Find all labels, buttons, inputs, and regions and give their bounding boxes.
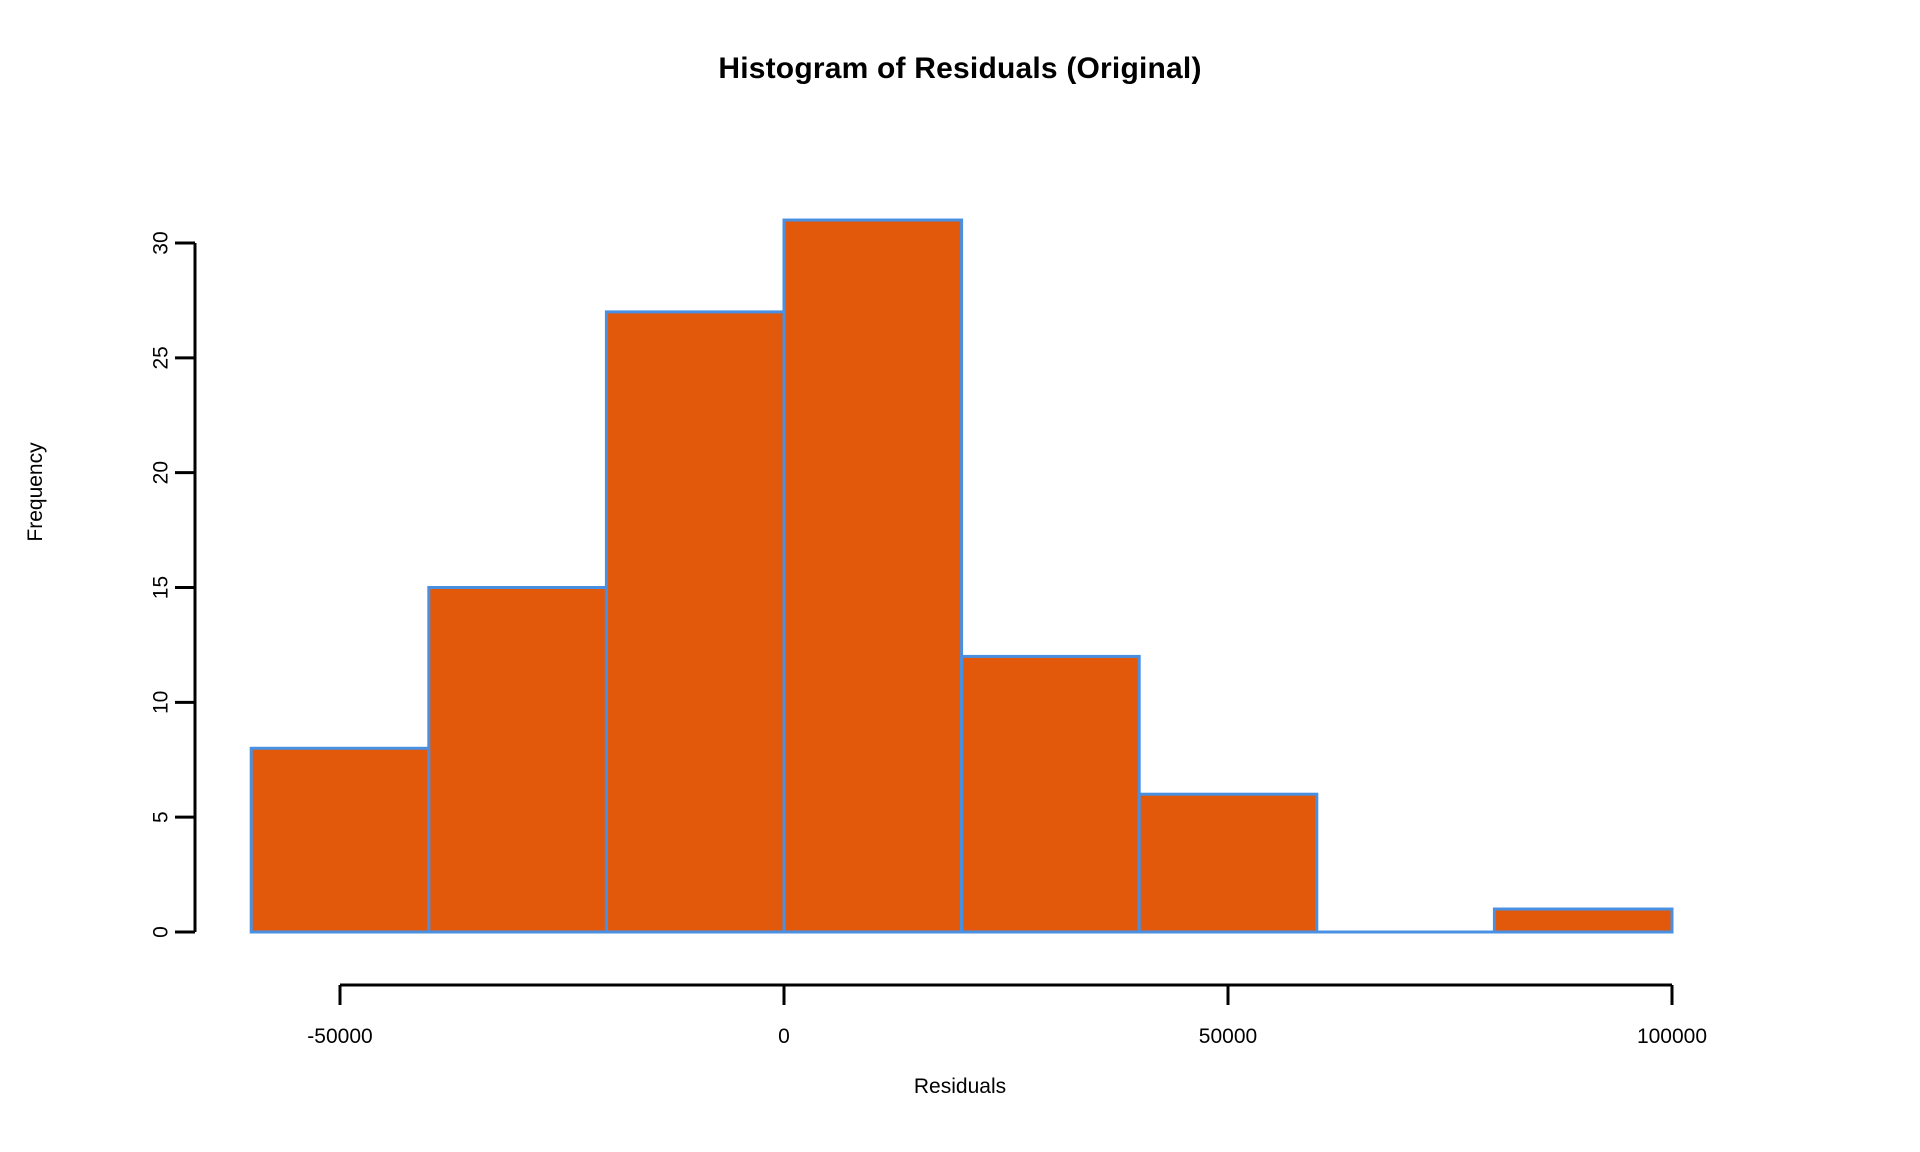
y-axis-tick-label: 30 [150,231,173,254]
x-axis-tick-label: -50000 [307,1025,372,1048]
histogram-bar [784,220,962,932]
histogram-bar [1494,909,1672,932]
histogram-bar [1139,794,1317,932]
x-axis-tick-label: 50000 [1199,1025,1257,1048]
histogram-bar [606,312,784,932]
y-axis-tick-label: 20 [150,461,173,484]
x-axis-tick-label: 100000 [1637,1025,1707,1048]
y-axis-tick-label: 0 [150,926,173,938]
x-axis: -50000050000100000 [307,985,1707,1048]
histogram-bar [962,656,1140,932]
y-axis-tick-label: 5 [150,811,173,823]
histogram-bar [251,748,429,932]
chart-canvas: 051015202530 -50000050000100000 [0,0,1920,1152]
y-axis-tick-label: 25 [150,346,173,369]
histogram-bar [429,588,607,933]
y-axis-tick-label: 10 [150,691,173,714]
x-axis-tick-label: 0 [778,1025,790,1048]
histogram-plot: Histogram of Residuals (Original) Freque… [0,0,1920,1152]
y-axis-tick-label: 15 [150,576,173,599]
y-axis: 051015202530 [150,231,196,938]
histogram-bars [251,220,1672,932]
